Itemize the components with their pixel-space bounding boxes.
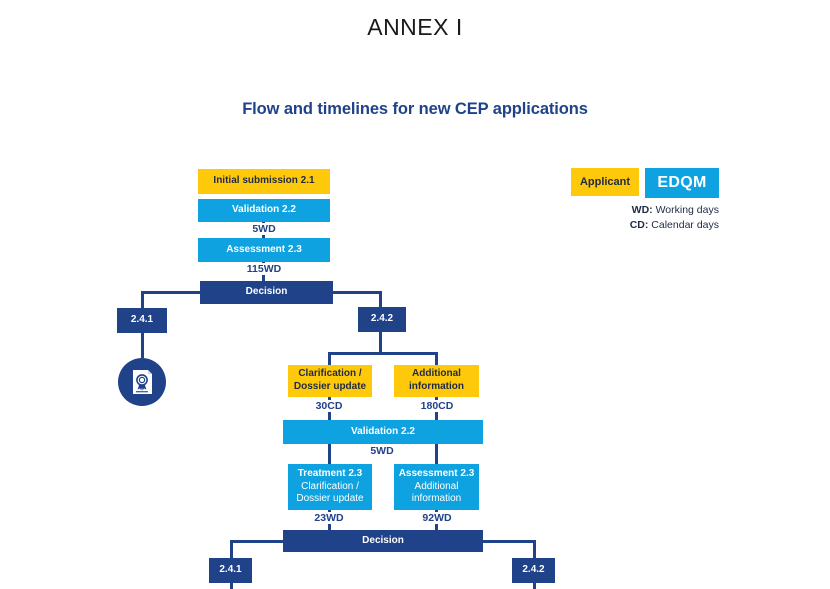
legend: Applicant EDQM WD: Working days CD: Cale… — [571, 168, 719, 233]
node-sublabel-line1: Clarification / — [301, 481, 359, 494]
node-label-line1: Clarification / — [298, 368, 361, 381]
timeline-label-5wd-second: 5WD — [345, 445, 419, 457]
connector-to-additional-info — [435, 352, 438, 365]
node-validation-1[interactable]: Validation 2.2 — [198, 199, 330, 222]
node-ref-241-top[interactable]: 2.4.1 — [117, 308, 167, 333]
node-label: Treatment 2.3 — [298, 468, 362, 481]
legend-notes: WD: Working days CD: Calendar days — [571, 203, 719, 233]
connector-decision1-right-vertical — [379, 291, 382, 308]
legend-label-applicant: Applicant — [580, 176, 630, 188]
node-sublabel-line1: Additional — [415, 481, 459, 494]
legend-swatches: Applicant EDQM — [571, 168, 719, 198]
connector-decision2-right-vertical — [533, 540, 536, 559]
connector-242-bottom-down — [533, 583, 536, 589]
node-label: 2.4.2 — [371, 313, 393, 326]
legend-text-wd: Working days — [653, 204, 719, 216]
node-label: Validation 2.2 — [232, 204, 296, 217]
legend-note-cd: CD: Calendar days — [571, 218, 719, 233]
connector-decision1-left-horizontal — [141, 291, 203, 294]
node-label-line1: Additional — [412, 368, 461, 381]
connector-decision2-right-horizontal — [480, 540, 536, 543]
legend-chip-applicant: Applicant — [571, 168, 639, 196]
connector-decision1-right-horizontal — [330, 291, 382, 294]
node-additional-information[interactable]: Additional information — [394, 365, 479, 397]
timeline-label-92wd: 92WD — [400, 512, 474, 524]
connector-241-bottom-down — [230, 583, 233, 589]
node-label-line2: information — [409, 381, 464, 394]
node-label: Decision — [246, 286, 288, 299]
node-label: 2.4.2 — [522, 564, 544, 577]
legend-chip-edqm: EDQM — [645, 168, 719, 198]
node-label: Decision — [362, 535, 404, 548]
legend-label-edqm: EDQM — [657, 174, 706, 192]
node-ref-242-bottom[interactable]: 2.4.2 — [512, 558, 555, 583]
certificate-icon — [127, 367, 157, 397]
timeline-label-23wd: 23WD — [292, 512, 366, 524]
node-initial-submission[interactable]: Initial submission 2.1 — [198, 169, 330, 194]
node-decision-2[interactable]: Decision — [283, 530, 483, 552]
connector-to-clarification — [328, 352, 331, 365]
timeline-label-180cd: 180CD — [400, 400, 474, 412]
legend-abbr-wd: WD: — [632, 204, 653, 216]
node-label: Validation 2.2 — [351, 426, 415, 439]
timeline-label-115wd: 115WD — [220, 263, 308, 275]
node-treatment-23[interactable]: Treatment 2.3 Clarification / Dossier up… — [288, 464, 372, 510]
connector-validation2-to-treatment — [328, 444, 331, 464]
legend-abbr-cd: CD: — [630, 219, 649, 231]
node-ref-241-bottom[interactable]: 2.4.1 — [209, 558, 252, 583]
node-label: Initial submission 2.1 — [213, 175, 314, 188]
node-ref-242-top[interactable]: 2.4.2 — [358, 307, 406, 332]
node-decision-1[interactable]: Decision — [200, 281, 333, 304]
node-assessment-1[interactable]: Assessment 2.3 — [198, 238, 330, 262]
connector-decision2-left-horizontal — [230, 540, 286, 543]
connector-241-to-certificate — [141, 333, 144, 358]
node-label: 2.4.1 — [219, 564, 241, 577]
legend-text-cd: Calendar days — [648, 219, 719, 231]
node-assessment-2[interactable]: Assessment 2.3 Additional information — [394, 464, 479, 510]
flowchart-diagram: Initial submission 2.1 Validation 2.2 5W… — [0, 0, 830, 589]
connector-decision2-left-vertical — [230, 540, 233, 559]
node-label: Assessment 2.3 — [399, 468, 475, 481]
timeline-label-30cd: 30CD — [292, 400, 366, 412]
timeline-label-5wd-first: 5WD — [222, 223, 306, 235]
node-label: 2.4.1 — [131, 314, 153, 327]
connector-validation2-to-assessment2 — [435, 444, 438, 464]
node-sublabel-line2: information — [412, 493, 461, 506]
certificate-badge[interactable] — [118, 358, 166, 406]
node-clarification-dossier-update[interactable]: Clarification / Dossier update — [288, 365, 372, 397]
connector-decision1-left-vertical — [141, 291, 144, 308]
legend-note-wd: WD: Working days — [571, 203, 719, 218]
node-sublabel-line2: Dossier update — [296, 493, 363, 506]
node-label: Assessment 2.3 — [226, 244, 302, 257]
node-validation-2[interactable]: Validation 2.2 — [283, 420, 483, 444]
node-label-line2: Dossier update — [294, 381, 366, 394]
connector-242-split-horizontal — [328, 352, 438, 355]
connector-242-down — [379, 332, 382, 352]
